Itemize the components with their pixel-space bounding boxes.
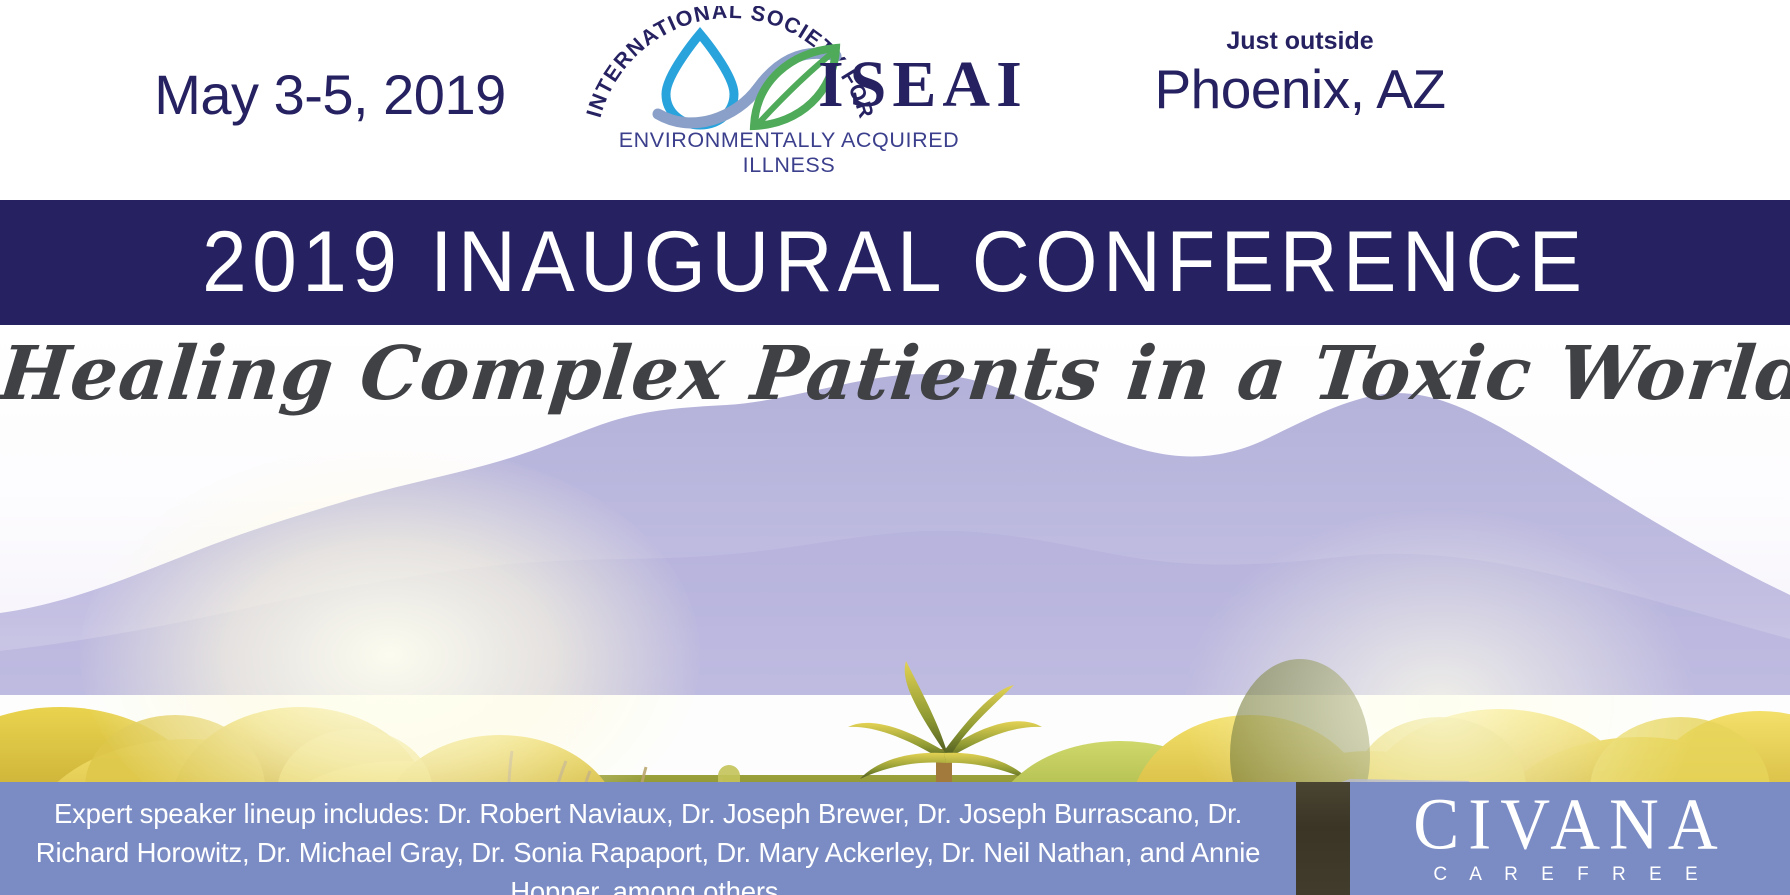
venue-logo-panel: CIVANA C A R E F R E E [1350, 782, 1790, 895]
hero-headline: Healing Complex Patients in a Toxic Worl… [0, 331, 1790, 417]
venue-name: CIVANA [1413, 786, 1726, 863]
venue-subtitle: C A R E F R E E [1433, 864, 1706, 886]
logo-acronym: ISEAI [818, 52, 1028, 118]
location-city: Phoenix, AZ [1060, 58, 1540, 121]
conference-banner: May 3-5, 2019 INTERNATIONAL SOCIETY FOR [0, 0, 1790, 895]
conference-title: 2019 INAUGURAL CONFERENCE [202, 213, 1587, 312]
location-block: Just outside Phoenix, AZ [1060, 28, 1540, 121]
location-prefix: Just outside [1060, 28, 1540, 56]
conference-date: May 3-5, 2019 [120, 62, 540, 127]
conference-title-band: 2019 INAUGURAL CONFERENCE [0, 200, 1790, 325]
tree-trunk-gap [1296, 782, 1350, 895]
logo-tagline: ENVIRONMENTALLY ACQUIRED ILLNESS [594, 128, 984, 178]
speaker-lineup-text: Expert speaker lineup includes: Dr. Robe… [16, 782, 1281, 895]
header-bar: May 3-5, 2019 INTERNATIONAL SOCIETY FOR [0, 0, 1790, 200]
iseai-logo: INTERNATIONAL SOCIETY FOR [580, 6, 980, 176]
speaker-lineup-bar: Expert speaker lineup includes: Dr. Robe… [0, 782, 1296, 895]
